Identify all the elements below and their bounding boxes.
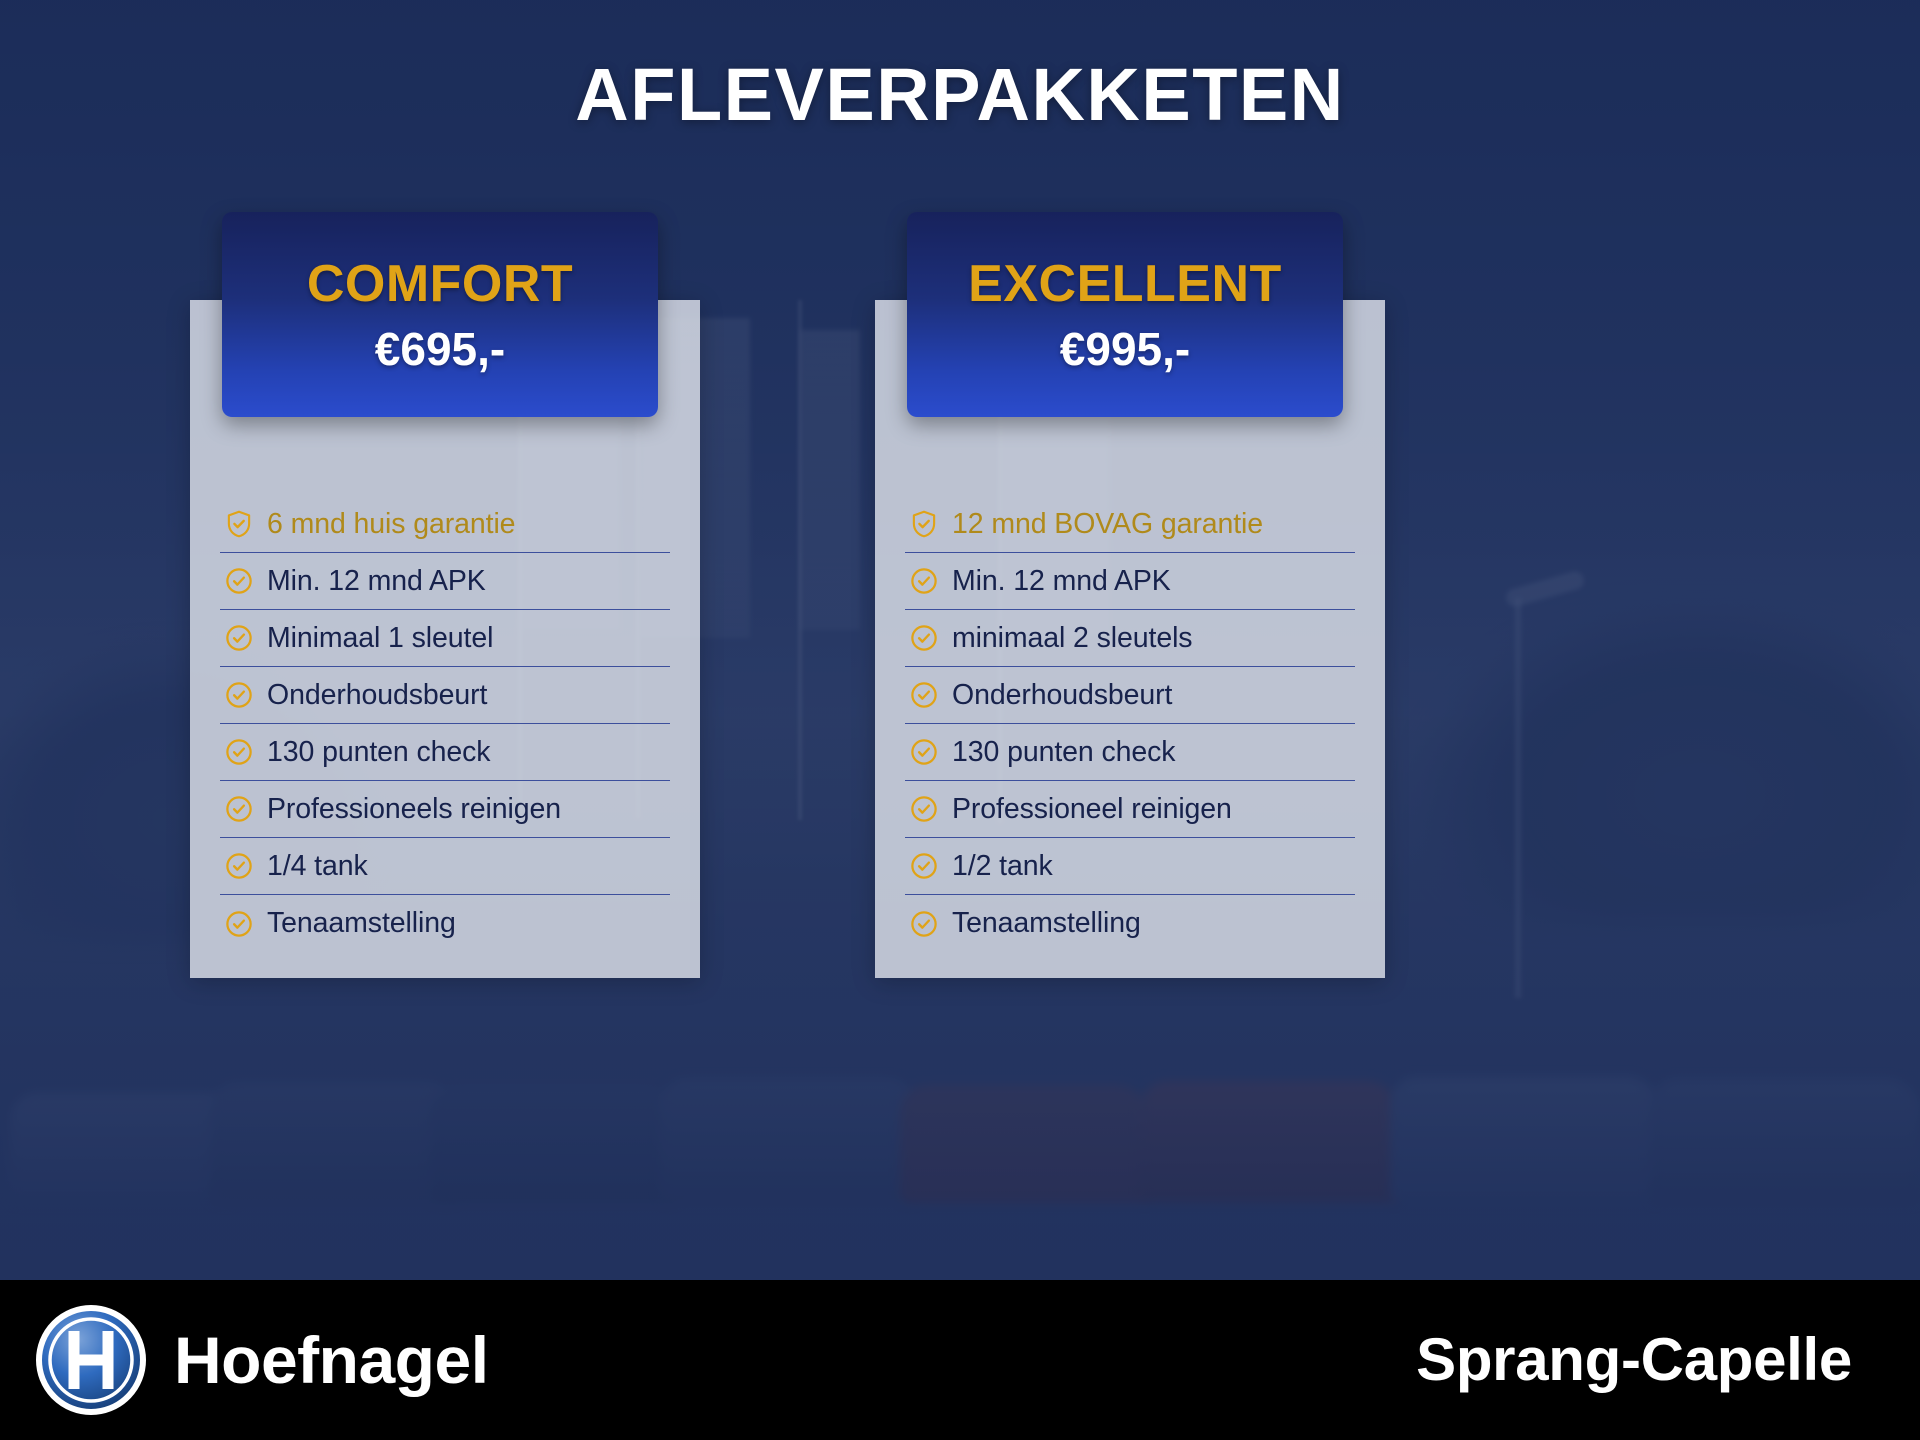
- feature-item: Tenaamstelling: [905, 895, 1355, 952]
- hoefnagel-logo-icon: [36, 1305, 146, 1415]
- circle-check-icon: [224, 566, 254, 596]
- feature-label: minimaal 2 sleutels: [952, 622, 1192, 655]
- feature-list: 12 mnd BOVAG garantieMin. 12 mnd APKmini…: [905, 496, 1355, 952]
- package-cards: 6 mnd huis garantieMin. 12 mnd APKMinima…: [0, 0, 1920, 1280]
- feature-item: 1/2 tank: [905, 838, 1355, 895]
- package-card-header: EXCELLENT €995,-: [907, 212, 1343, 417]
- feature-item: Minimaal 1 sleutel: [220, 610, 670, 667]
- feature-label: 12 mnd BOVAG garantie: [952, 508, 1263, 541]
- brand-block: Hoefnagel: [36, 1305, 489, 1415]
- package-name: COMFORT: [307, 258, 573, 310]
- feature-item: Tenaamstelling: [220, 895, 670, 952]
- circle-check-icon: [909, 623, 939, 653]
- circle-check-icon: [909, 909, 939, 939]
- feature-label: Min. 12 mnd APK: [952, 565, 1171, 598]
- footer-bar: Hoefnagel Sprang-Capelle: [0, 1280, 1920, 1440]
- feature-item: 12 mnd BOVAG garantie: [905, 496, 1355, 553]
- feature-item: Min. 12 mnd APK: [220, 553, 670, 610]
- feature-item: minimaal 2 sleutels: [905, 610, 1355, 667]
- feature-item: Professioneels reinigen: [220, 781, 670, 838]
- feature-label: Onderhoudsbeurt: [267, 679, 487, 712]
- feature-item: Professioneel reinigen: [905, 781, 1355, 838]
- shield-check-icon: [909, 509, 939, 539]
- location-label: Sprang-Capelle: [1416, 1330, 1852, 1390]
- feature-item: Onderhoudsbeurt: [220, 667, 670, 724]
- circle-check-icon: [224, 794, 254, 824]
- brand-name: Hoefnagel: [174, 1327, 489, 1393]
- package-price: €695,-: [375, 326, 505, 372]
- circle-check-icon: [909, 794, 939, 824]
- package-price: €995,-: [1060, 326, 1190, 372]
- feature-label: 6 mnd huis garantie: [267, 508, 515, 541]
- feature-label: Tenaamstelling: [267, 907, 456, 940]
- feature-label: 130 punten check: [267, 736, 490, 769]
- feature-label: Professioneel reinigen: [952, 793, 1232, 826]
- feature-label: Tenaamstelling: [952, 907, 1141, 940]
- circle-check-icon: [909, 851, 939, 881]
- circle-check-icon: [909, 737, 939, 767]
- feature-label: Min. 12 mnd APK: [267, 565, 486, 598]
- feature-item: Min. 12 mnd APK: [905, 553, 1355, 610]
- feature-item: Onderhoudsbeurt: [905, 667, 1355, 724]
- feature-label: Professioneels reinigen: [267, 793, 561, 826]
- feature-item: 130 punten check: [905, 724, 1355, 781]
- feature-label: Minimaal 1 sleutel: [267, 622, 493, 655]
- feature-item: 130 punten check: [220, 724, 670, 781]
- circle-check-icon: [909, 566, 939, 596]
- shield-check-icon: [224, 509, 254, 539]
- circle-check-icon: [224, 737, 254, 767]
- circle-check-icon: [224, 851, 254, 881]
- feature-list: 6 mnd huis garantieMin. 12 mnd APKMinima…: [220, 496, 670, 952]
- feature-item: 6 mnd huis garantie: [220, 496, 670, 553]
- circle-check-icon: [909, 680, 939, 710]
- package-card-header: COMFORT €695,-: [222, 212, 658, 417]
- slide-canvas: AFLEVERPAKKETEN 6 mnd huis garantieMin. …: [0, 0, 1920, 1440]
- feature-label: 1/2 tank: [952, 850, 1053, 883]
- feature-label: 1/4 tank: [267, 850, 368, 883]
- circle-check-icon: [224, 680, 254, 710]
- circle-check-icon: [224, 909, 254, 939]
- feature-item: 1/4 tank: [220, 838, 670, 895]
- package-name: EXCELLENT: [968, 258, 1282, 310]
- feature-label: 130 punten check: [952, 736, 1175, 769]
- feature-label: Onderhoudsbeurt: [952, 679, 1172, 712]
- circle-check-icon: [224, 623, 254, 653]
